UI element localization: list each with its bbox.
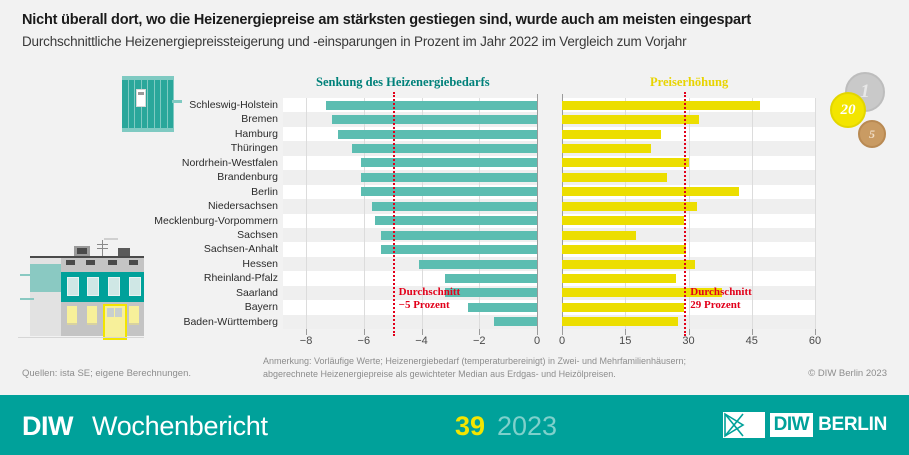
bar <box>562 317 678 326</box>
bar <box>361 158 537 167</box>
bar <box>562 101 760 110</box>
bar <box>562 144 651 153</box>
axis-tick-label: 0 <box>559 335 565 347</box>
axis-left: −8−6−4−20 <box>283 329 537 351</box>
bar <box>562 245 686 254</box>
page-title: Nicht überall dort, wo die Heizenergiepr… <box>22 12 892 28</box>
bar <box>562 202 697 211</box>
axis-tick-label: 30 <box>682 335 694 347</box>
category-label: Sachsen-Anhalt <box>150 242 278 256</box>
plot-left: Durchschnitt−5 Prozent −8−6−4−20 <box>283 98 537 329</box>
axis-tick-label: 0 <box>534 335 540 347</box>
category-label: Mecklenburg-Vorpommern <box>150 214 278 228</box>
bar <box>562 158 689 167</box>
banner-issue-number: 39 <box>455 411 485 442</box>
category-label: Hamburg <box>150 127 278 141</box>
category-label: Bremen <box>150 112 278 126</box>
bar <box>445 274 537 283</box>
diw-berlin-logo: DIW BERLIN <box>723 411 887 439</box>
zero-axis-line <box>537 94 538 333</box>
category-labels: Schleswig-HolsteinBremenHamburgThüringen… <box>150 98 278 329</box>
bar <box>332 115 537 124</box>
category-label: Saarland <box>150 286 278 300</box>
bar <box>372 202 537 211</box>
legend-left-label: Senkung des Heizenergiebedarfs <box>316 75 490 90</box>
logo-berlin-text: BERLIN <box>818 414 887 436</box>
category-label: Brandenburg <box>150 170 278 184</box>
average-text-line: −5 Prozent <box>399 299 461 312</box>
footer-banner: DIW Wochenbericht 39 2023 DIW BERLIN <box>0 395 909 455</box>
category-label: Thüringen <box>150 141 278 155</box>
category-label: Rheinland-Pfalz <box>150 271 278 285</box>
chart-area: Senkung des Heizenergiebedarfs Preiserhö… <box>0 64 909 352</box>
bar <box>326 101 537 110</box>
axis-tick-label: 15 <box>619 335 631 347</box>
bar <box>562 260 695 269</box>
average-text-line: Durchschnitt <box>399 286 461 299</box>
gridline <box>306 98 307 329</box>
average-text-line: 29 Prozent <box>690 299 752 312</box>
banner-title-label: Wochenbericht <box>92 411 268 442</box>
bar <box>562 115 699 124</box>
bar <box>494 317 537 326</box>
banner-diw-label: DIW <box>22 411 73 442</box>
banner-year: 2023 <box>497 411 557 442</box>
annotation-note: Anmerkung: Vorläufige Werte; Heizenergie… <box>263 355 733 380</box>
category-label: Hessen <box>150 257 278 271</box>
bar <box>562 173 667 182</box>
bar <box>468 303 537 312</box>
plot-right: Durchschnitt29 Prozent 015304560 <box>562 98 815 329</box>
legend-right-label: Preiserhöhung <box>650 75 728 90</box>
axis-tick-label: −8 <box>300 335 313 347</box>
bar <box>361 173 537 182</box>
axis-right: 015304560 <box>562 329 815 351</box>
bar <box>361 187 537 196</box>
infographic-root: Nicht überall dort, wo die Heizenergiepr… <box>0 0 909 455</box>
category-label: Berlin <box>150 185 278 199</box>
average-text-line: Durchschnitt <box>690 286 752 299</box>
bar <box>352 144 537 153</box>
gridline <box>815 98 816 329</box>
bar <box>562 231 636 240</box>
category-label: Nordrhein-Westfalen <box>150 156 278 170</box>
axis-tick-label: 45 <box>746 335 758 347</box>
bar <box>562 130 661 139</box>
bar <box>375 216 537 225</box>
bar <box>562 303 684 312</box>
axis-tick-label: −6 <box>358 335 371 347</box>
average-label-left: Durchschnitt−5 Prozent <box>399 286 461 312</box>
bar <box>381 231 537 240</box>
source-note: Quellen: ista SE; eigene Berechnungen. <box>22 368 191 379</box>
axis-tick-label: −4 <box>415 335 428 347</box>
bar <box>338 130 537 139</box>
average-label-right: Durchschnitt29 Prozent <box>690 286 752 312</box>
logo-mark-icon <box>723 412 765 438</box>
average-line-left <box>393 92 395 336</box>
category-label: Sachsen <box>150 228 278 242</box>
axis-tick-label: −2 <box>473 335 486 347</box>
bar <box>419 260 537 269</box>
average-line-right <box>684 92 686 336</box>
logo-diw-text: DIW <box>770 413 813 437</box>
category-label: Bayern <box>150 300 278 314</box>
category-label: Schleswig-Holstein <box>150 98 278 112</box>
bar <box>562 187 739 196</box>
bar <box>562 274 676 283</box>
copyright-note: © DIW Berlin 2023 <box>808 368 887 379</box>
bar <box>562 216 684 225</box>
bar <box>381 245 537 254</box>
category-label: Baden-Württemberg <box>150 315 278 329</box>
axis-tick-label: 60 <box>809 335 821 347</box>
page-subtitle: Durchschnittliche Heizenergiepreissteige… <box>22 34 892 49</box>
category-label: Niedersachsen <box>150 199 278 213</box>
